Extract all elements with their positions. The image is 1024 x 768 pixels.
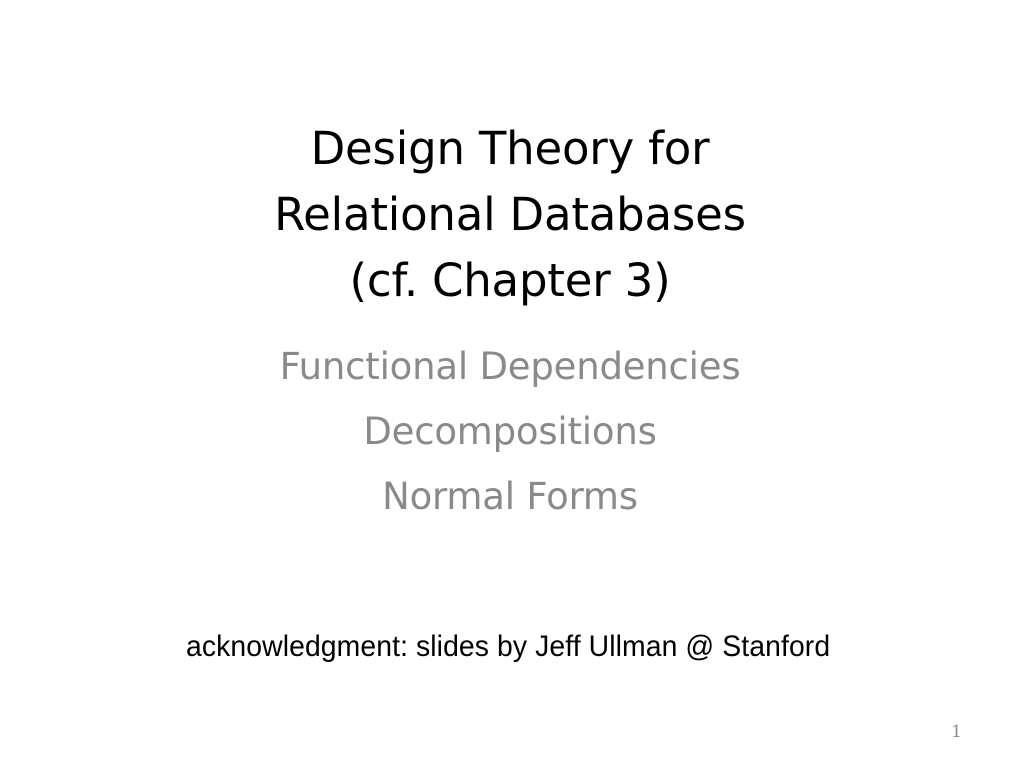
title-line-1: Design Theory for (0, 116, 1022, 182)
subtitle-line-3: Normal Forms (0, 464, 1022, 529)
slide-canvas: Design Theory for Relational Databases (… (0, 0, 1024, 768)
slide-title: Design Theory for Relational Databases (… (0, 116, 1022, 314)
subtitle-line-2: Decompositions (0, 399, 1022, 464)
subtitle-line-1: Functional Dependencies (0, 334, 1022, 399)
title-line-2: Relational Databases (0, 182, 1022, 248)
title-line-3: (cf. Chapter 3) (0, 248, 1022, 314)
slide-subtitle: Functional Dependencies Decompositions N… (0, 334, 1022, 529)
page-number: 1 (951, 721, 962, 743)
acknowledgment-text: acknowledgment: slides by Jeff Ullman @ … (186, 627, 904, 667)
